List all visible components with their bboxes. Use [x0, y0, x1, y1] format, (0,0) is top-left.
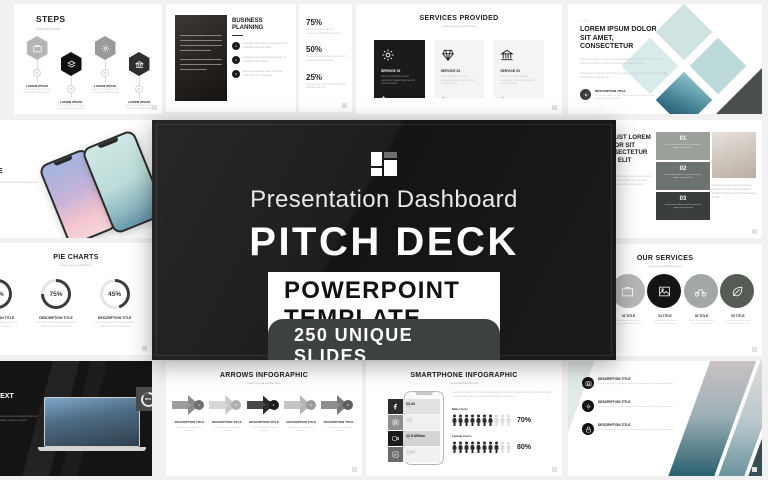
steps-title: STEPS — [36, 14, 162, 24]
connector — [105, 77, 106, 82]
percent-list: 75% Lorem ipsum dolor sit amet consectet… — [306, 18, 346, 100]
percent-item: 50% Ut enim ad minim veniam quis nostrud… — [306, 45, 346, 63]
step-item[interactable]: 04 LOREM IPSUM Lorem ipsum dolor sit ame… — [125, 52, 153, 112]
arrow-body: Lorem ipsum dolor sit amet consectetur — [321, 427, 356, 434]
smartphone-title: SMARTPHONE INFOGRAPHIC — [366, 372, 562, 379]
corner-triangle — [716, 68, 762, 114]
plus-icon[interactable] — [381, 87, 386, 92]
pie-item-body: Lorem ipsum dolor sit amet consectetur a… — [33, 322, 79, 329]
item-body: Lorem ipsum dolor sit amet consectetur a… — [661, 204, 705, 211]
step-body: Lorem ipsum dolor sit amet consectetur a… — [23, 89, 51, 96]
business-list-stack: 01 Lorem ipsum dolor sit amet consectetu… — [656, 132, 710, 222]
business-list-side-body: Lorem ipsum dolor sit amet consectetur a… — [712, 184, 756, 200]
item-number: 2 — [232, 56, 240, 64]
donut-chart: 66% — [0, 279, 12, 309]
pie-item[interactable]: 75% DESCRIPTION TITLE Lorem ipsum dolor … — [33, 279, 79, 329]
page-marker — [142, 346, 147, 351]
services-row: SERVICE 01 Lorem ipsum dolor sit amet co… — [374, 40, 544, 98]
laptop-base — [38, 447, 146, 451]
arrows-row: 1 DESCRIPTION TITLE Lorem ipsum dolor si… — [172, 395, 356, 433]
bar-label: Male Users — [452, 407, 552, 411]
description-item[interactable]: DESCRIPTION TITLE Lorem ipsum dolor sit … — [582, 400, 674, 412]
percent-value: 50% — [306, 45, 346, 54]
plus-icon[interactable] — [500, 87, 505, 92]
service-title: 04 TITLE — [684, 314, 720, 318]
arrows-title: ARROWS INFOGRAPHIC — [166, 372, 362, 379]
pie-item-title: DESCRIPTION TITLE — [0, 316, 20, 320]
camera-icon — [582, 377, 594, 389]
page-marker — [552, 467, 557, 472]
service-item[interactable]: 03 TITLE Lorem ipsum dolor sit amet cons… — [647, 274, 683, 327]
service-item[interactable]: 04 TITLE Lorem ipsum dolor sit amet cons… — [684, 274, 720, 327]
arrow-body: Lorem ipsum dolor sit amet consectetur — [284, 427, 319, 434]
page-marker — [752, 229, 757, 234]
business-list-item[interactable]: 02 Lorem ipsum dolor sit amet consectetu… — [656, 162, 710, 190]
hero-slide[interactable]: Presentation Dashboard PITCH DECK POWERP… — [152, 120, 616, 360]
pie-item[interactable]: 45% DESCRIPTION TITLE Lorem ipsum dolor … — [92, 279, 138, 329]
bicycle-icon — [684, 274, 718, 308]
service-card[interactable]: SERVICE 03 Lorem ipsum dolor sit amet co… — [493, 40, 544, 98]
gear-icon — [580, 89, 591, 100]
leaf-icon — [720, 274, 754, 308]
phone-body: Lorem ipsum dolor sit amet consectetur a… — [0, 181, 38, 189]
slide-description-mountains[interactable]: DESCRIPTION TITLE Lorem ipsum dolor sit … — [568, 361, 762, 476]
slide-percentages[interactable]: 75% Lorem ipsum dolor sit amet consectet… — [299, 4, 352, 112]
lorem-body-1: Lorem ipsum dolor sit amet consectetur a… — [580, 58, 668, 66]
percent-text: Lorem ipsum dolor sit amet consectetur a… — [306, 29, 346, 36]
phone-title-line1: FOR — [0, 158, 38, 167]
arrow-shape: 2 — [209, 395, 244, 415]
lorem-footer[interactable]: DESCRIPTION TITLE Lorem ipsum dolor sit … — [580, 89, 655, 102]
slide-services-provided[interactable]: SERVICES PROVIDED Insert a great subtitl… — [356, 4, 562, 114]
footer-title: DESCRIPTION TITLE — [595, 89, 655, 93]
arrow-shape: 1 — [172, 395, 207, 415]
step-label: LOREM IPSUM — [128, 100, 150, 104]
bar-percent: 70% — [517, 417, 531, 424]
arrow-body: Lorem ipsum dolor sit amet consectetur — [172, 427, 207, 434]
description-title: DESCRIPTION TITLE — [598, 400, 674, 404]
arrow-title: DESCRIPTION TITLE — [247, 421, 282, 425]
slide-phone-mockups[interactable]: FOR EBSITE Lorem ipsum dolor sit amet co… — [0, 120, 152, 238]
service-title: 03 TITLE — [647, 314, 683, 318]
item-number: 01 — [661, 136, 705, 142]
service-body: Lorem ipsum dolor sit amet consectetur a… — [381, 76, 418, 87]
step-label: LOREM IPSUM — [60, 100, 82, 104]
arrow-number: 3 — [269, 400, 279, 410]
laptop-screen — [44, 397, 140, 447]
percent-value: 25% — [306, 73, 346, 82]
step-number: 03 — [101, 69, 109, 77]
pie-title: PIE CHARTS — [0, 254, 152, 261]
percent-item: 75% Lorem ipsum dolor sit amet consectet… — [306, 18, 346, 36]
page-marker — [352, 467, 357, 472]
arrow-body: Lorem ipsum dolor sit amet consectetur — [209, 427, 244, 434]
step-body: Lorem ipsum dolor sit amet consectetur a… — [125, 105, 153, 112]
gear-icon — [582, 400, 594, 412]
dark-body: Lorem ipsum dolor sit amet consectetur a… — [0, 415, 38, 423]
service-body: Lorem ipsum dolor sit amet consectetur a… — [441, 76, 478, 87]
facebook-icon — [388, 399, 403, 414]
lorem-title: LOREM IPSUM DOLOR SIT AMET, CONSECTETUR — [580, 26, 668, 52]
item-number: 3 — [232, 70, 240, 78]
arrow-item[interactable]: 3 DESCRIPTION TITLE Lorem ipsum dolor si… — [247, 395, 282, 433]
slide-grid: STEPS See how it works 01 LOREM IPSUM Lo… — [0, 0, 768, 480]
connector — [37, 77, 38, 82]
description-title: DESCRIPTION TITLE — [598, 377, 674, 381]
slide-smartphone-infographic[interactable]: SMARTPHONE INFOGRAPHIC Social Media Stat… — [366, 361, 562, 476]
stat-label: Likes — [406, 406, 437, 408]
pie-subtitle: Insert a great subtitle here — [0, 263, 152, 267]
stat-card[interactable]: 125 Shares — [388, 415, 440, 430]
lock-icon — [582, 423, 594, 435]
arrow-title: DESCRIPTION TITLE — [209, 421, 244, 425]
phone-notch — [98, 137, 119, 148]
steps-subtitle: See how it works — [36, 27, 162, 31]
divider — [232, 35, 243, 36]
percent-value: 75% — [306, 18, 346, 27]
step-number: 02 — [67, 85, 75, 93]
phone-content: FOR EBSITE Lorem ipsum dolor sit amet co… — [0, 158, 38, 202]
donut-chart: 75% — [41, 279, 71, 309]
bar-group: Female Users 80% — [452, 434, 552, 453]
dark-content: WITH TEXT SIDE Lorem ipsum dolor sit ame… — [0, 393, 38, 423]
dark-title-line1: WITH TEXT — [0, 393, 38, 401]
service-body: Lorem ipsum dolor sit amet consectetur a… — [720, 320, 756, 327]
planning-item[interactable]: 2 Excepteur sint occaecat cupidatat non … — [232, 56, 288, 64]
percent-text: Duis aute irure dolor in reprehenderit i… — [306, 84, 346, 91]
planning-item[interactable]: 3 Sed ut perspiciatis unde omnis iste na… — [232, 70, 288, 78]
laptop-mockup[interactable] — [44, 397, 140, 451]
arrows-subtitle: Insert a great subtitle here — [166, 381, 362, 385]
service-title: 05 TITLE — [720, 314, 756, 318]
arrow-item[interactable]: 2 DESCRIPTION TITLE Lorem ipsum dolor si… — [209, 395, 244, 433]
page-marker — [552, 105, 557, 110]
connector — [139, 76, 140, 85]
description-body: Lorem ipsum dolor sit amet consectetur a… — [598, 406, 674, 410]
grid-logo — [371, 152, 397, 176]
briefcase-icon — [27, 36, 48, 60]
arrow-item[interactable]: 1 DESCRIPTION TITLE Lorem ipsum dolor si… — [172, 395, 207, 433]
stat-card[interactable]: 22.5 Million Views — [388, 431, 440, 446]
description-list: DESCRIPTION TITLE Lorem ipsum dolor sit … — [582, 377, 674, 446]
stat-label: Views — [406, 438, 437, 440]
page-marker — [152, 105, 157, 110]
donut-value: 66% — [0, 282, 9, 306]
dark-title-line2: SIDE — [0, 401, 38, 409]
arrow-number: 2 — [231, 400, 241, 410]
donut-value: 45% — [103, 282, 127, 306]
lorem-content: INTRO LOREM IPSUM DOLOR SIT AMET, CONSEC… — [580, 20, 668, 80]
step-body: Lorem ipsum dolor sit amet consectetur a… — [57, 105, 85, 112]
lorem-body-2: Duis aute irure dolor in reprehenderit i… — [580, 72, 668, 80]
step-label: LOREM IPSUM — [26, 84, 48, 88]
stat-label: Shares — [406, 422, 437, 424]
item-number: 03 — [661, 196, 705, 202]
slide-arrows-infographic[interactable]: ARROWS INFOGRAPHIC Insert a great subtit… — [166, 361, 362, 476]
service-body: Lorem ipsum dolor sit amet consectetur a… — [647, 320, 683, 327]
percent-item: 25% Duis aute irure dolor in reprehender… — [306, 73, 346, 91]
connector — [37, 60, 38, 69]
planning-photo — [175, 15, 227, 101]
eyebrow: INTRO — [580, 20, 668, 23]
slide-lorem-ipsum[interactable]: INTRO LOREM IPSUM DOLOR SIT AMET, CONSEC… — [568, 4, 762, 114]
gear-icon — [95, 36, 116, 60]
step-number: 01 — [33, 69, 41, 77]
donut-chart: 45% — [100, 279, 130, 309]
connector — [71, 93, 72, 98]
page-marker — [342, 103, 347, 108]
step-number: 04 — [135, 85, 143, 93]
pie-item-body: Lorem ipsum dolor sit amet consectetur a… — [0, 322, 20, 329]
phone-title-line2: EBSITE — [0, 167, 38, 176]
arrow-item[interactable]: 4 DESCRIPTION TITLE Lorem ipsum dolor si… — [284, 395, 319, 433]
hero-badge[interactable]: 250 UNIQUE SLIDES — [268, 319, 500, 360]
service-body: Lorem ipsum dolor sit amet consectetur a… — [684, 320, 720, 327]
hero-eyebrow: Presentation Dashboard — [152, 186, 616, 214]
pie-item-title: DESCRIPTION TITLE — [92, 316, 138, 320]
business-list-item[interactable]: 01 Lorem ipsum dolor sit amet consectetu… — [656, 132, 710, 160]
pie-item-body: Lorem ipsum dolor sit amet consectetur a… — [92, 322, 138, 329]
stat-badge: 85% — [136, 387, 152, 411]
video-icon — [388, 431, 403, 446]
description-body: Lorem ipsum dolor sit amet consectetur a… — [598, 383, 674, 387]
services-subtitle: Insert a great subtitle here — [356, 24, 562, 28]
smartphone-right: Lorem ipsum dolor sit amet consectetur a… — [452, 391, 552, 453]
service-item[interactable]: 05 TITLE Lorem ipsum dolor sit amet cons… — [720, 274, 756, 327]
step-item[interactable]: 01 LOREM IPSUM Lorem ipsum dolor sit ame… — [23, 36, 51, 112]
stat-card[interactable]: 03.00 Likes — [388, 399, 440, 414]
arrow-number: 4 — [306, 400, 316, 410]
donut-value: 75% — [44, 282, 68, 306]
connector — [139, 93, 140, 98]
arrow-number: 5 — [343, 400, 353, 410]
slide-dark-laptop[interactable]: WITH TEXT SIDE Lorem ipsum dolor sit ame… — [0, 361, 152, 476]
check-icon — [388, 447, 403, 462]
business-list-item[interactable]: 03 Lorem ipsum dolor sit amet consectetu… — [656, 192, 710, 220]
item-text: Duis aute irure dolor in reprehenderit i… — [243, 42, 288, 50]
item-body: Lorem ipsum dolor sit amet consectetur a… — [661, 144, 705, 151]
item-number: 02 — [661, 166, 705, 172]
item-text: Excepteur sint occaecat cupidatat non pr… — [243, 56, 288, 64]
service-card[interactable]: SERVICE 02 Lorem ipsum dolor sit amet co… — [434, 40, 485, 98]
pie-row: 66% DESCRIPTION TITLE Lorem ipsum dolor … — [0, 279, 144, 329]
stat-label: Saves — [406, 454, 437, 456]
business-list-photo — [712, 132, 756, 178]
bank-icon — [500, 48, 514, 62]
pie-item-title: DESCRIPTION TITLE — [33, 316, 79, 320]
arrow-title: DESCRIPTION TITLE — [321, 421, 356, 425]
item-body: Lorem ipsum dolor sit amet consectetur a… — [661, 174, 705, 181]
step-item[interactable]: 02 LOREM IPSUM Lorem ipsum dolor sit ame… — [57, 52, 85, 112]
service-card[interactable]: SERVICE 01 Lorem ipsum dolor sit amet co… — [374, 40, 425, 98]
people-bar: 70% — [452, 414, 552, 426]
item-text: Sed ut perspiciatis unde omnis iste natu… — [243, 70, 288, 78]
diamond-icon — [441, 48, 455, 62]
image-icon — [647, 274, 681, 308]
step-label: LOREM IPSUM — [94, 84, 116, 88]
planning-title: BUSINESS PLANNING — [232, 18, 288, 32]
arrow-shape: 4 — [284, 395, 319, 415]
arrow-body: Lorem ipsum dolor sit amet consectetur — [247, 427, 282, 434]
connector — [105, 60, 106, 69]
service-name: SERVICE 03 — [500, 69, 537, 73]
smartphone-body: Lorem ipsum dolor sit amet consectetur a… — [452, 391, 552, 399]
service-body: Lorem ipsum dolor sit amet consectetur a… — [500, 76, 537, 87]
step-body: Lorem ipsum dolor sit amet consectetur a… — [91, 89, 119, 96]
pie-item[interactable]: 66% DESCRIPTION TITLE Lorem ipsum dolor … — [0, 279, 20, 329]
arrow-item[interactable]: 5 DESCRIPTION TITLE Lorem ipsum dolor si… — [321, 395, 356, 433]
service-name: SERVICE 01 — [381, 69, 418, 73]
item-number: 1 — [232, 42, 240, 50]
planning-item[interactable]: 1 Duis aute irure dolor in reprehenderit… — [232, 42, 288, 50]
smartphone-subtitle: Social Media Statistics — [366, 381, 562, 385]
slide-business-planning[interactable]: BUSINESS PLANNING 1 Duis aute irure dolo… — [166, 4, 296, 112]
arrow-shape: 3 — [247, 395, 282, 415]
plus-icon[interactable] — [441, 87, 446, 92]
description-item[interactable]: DESCRIPTION TITLE Lorem ipsum dolor sit … — [582, 423, 674, 435]
phone-notch — [416, 392, 433, 395]
planning-content: BUSINESS PLANNING 1 Duis aute irure dolo… — [232, 18, 288, 84]
services-title: SERVICES PROVIDED — [356, 15, 562, 22]
description-body: Lorem ipsum dolor sit amet consectetur a… — [598, 429, 674, 433]
arrow-shape: 5 — [321, 395, 356, 415]
steps-row: 01 LOREM IPSUM Lorem ipsum dolor sit ame… — [20, 36, 156, 112]
stat-cards: 03.00 Likes 125 Shares 22.5 Million — [388, 399, 440, 463]
camera-icon — [388, 415, 403, 430]
hero-title: PITCH DECK — [152, 220, 616, 265]
slide-steps[interactable]: STEPS See how it works 01 LOREM IPSUM Lo… — [14, 4, 162, 114]
bar-group: Male Users 70% — [452, 407, 552, 426]
description-item[interactable]: DESCRIPTION TITLE Lorem ipsum dolor sit … — [582, 377, 674, 389]
bar-percent: 80% — [517, 444, 531, 451]
bar-label: Female Users — [452, 434, 552, 438]
page-marker — [752, 347, 757, 352]
arrow-title: DESCRIPTION TITLE — [284, 421, 319, 425]
layers-icon — [61, 52, 82, 76]
step-item[interactable]: 03 LOREM IPSUM Lorem ipsum dolor sit ame… — [91, 36, 119, 112]
bank-icon — [129, 52, 150, 76]
phone-notch — [54, 155, 73, 166]
gear-icon — [381, 48, 395, 62]
slide-pie-charts[interactable]: PIE CHARTS Insert a great subtitle here … — [0, 243, 152, 355]
stat-card[interactable]: 3,845 Saves — [388, 447, 440, 462]
badge-value: 85% — [143, 394, 153, 405]
percent-text: Ut enim ad minim veniam quis nostrud exe… — [306, 56, 346, 63]
description-title: DESCRIPTION TITLE — [598, 423, 674, 427]
footer-body: Lorem ipsum dolor sit amet consectetur a… — [595, 95, 655, 102]
arrow-number: 1 — [194, 400, 204, 410]
arrow-title: DESCRIPTION TITLE — [172, 421, 207, 425]
connector — [71, 76, 72, 85]
page-marker — [752, 467, 757, 472]
people-bar: 80% — [452, 441, 552, 453]
service-name: SERVICE 02 — [441, 69, 478, 73]
